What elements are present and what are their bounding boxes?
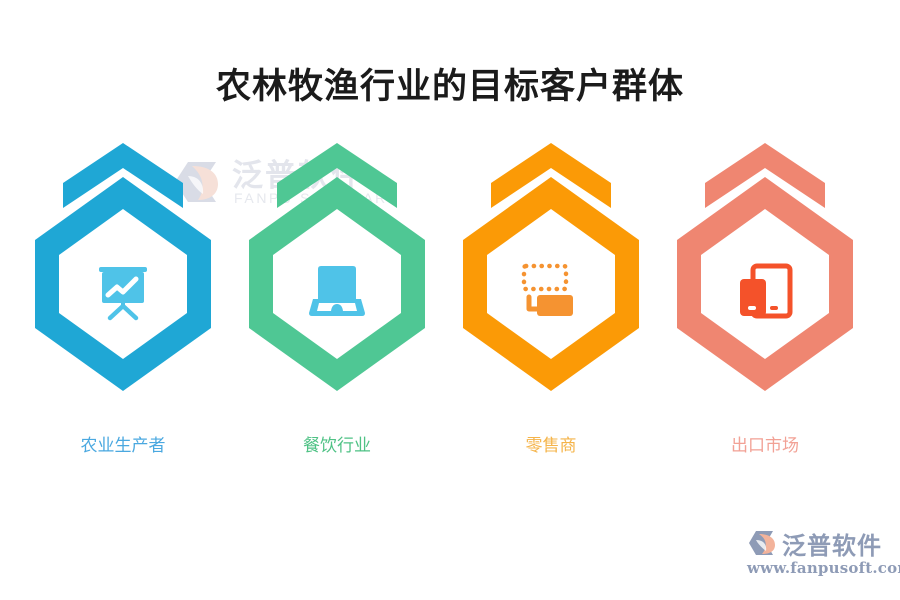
- infographic-page: 农林牧渔行业的目标客户群体 泛普软件 FANPU SOFTWARE: [0, 0, 900, 600]
- laptop-icon: [306, 263, 368, 319]
- card-retailer[interactable]: 零售商: [446, 135, 656, 465]
- hexagon-badge: [446, 135, 656, 400]
- presentation-chart-icon: [92, 260, 154, 322]
- brand-url-text: www.fanpusoft.com: [747, 559, 900, 577]
- card-agriculture-producer[interactable]: 农业生产者: [18, 135, 228, 465]
- card-catering-industry[interactable]: 餐饮行业: [232, 135, 442, 465]
- hexagon-badge: [660, 135, 870, 400]
- hexagon-badge: [18, 135, 228, 400]
- card-label-1: 餐饮行业: [232, 431, 442, 456]
- card-list: 农业生产者 餐饮行业: [0, 0, 900, 600]
- card-label-3: 出口市场: [660, 431, 870, 456]
- brand-logo-icon: [746, 528, 780, 558]
- brand-logo: 泛普软件 www.fanpusoft.com: [746, 526, 882, 582]
- icon-slot-1: [232, 243, 442, 339]
- icon-slot-2: [446, 243, 656, 339]
- package-dashed-box-icon: [518, 262, 584, 320]
- hexagon-badge: [232, 135, 442, 400]
- card-label-0: 农业生产者: [18, 431, 228, 456]
- brand-cn-text: 泛普软件: [782, 526, 882, 561]
- card-export-market[interactable]: 出口市场: [660, 135, 870, 465]
- icon-slot-3: [660, 243, 870, 339]
- icon-slot-0: [18, 243, 228, 339]
- mobile-tablet-devices-icon: [736, 262, 794, 320]
- card-label-2: 零售商: [446, 431, 656, 456]
